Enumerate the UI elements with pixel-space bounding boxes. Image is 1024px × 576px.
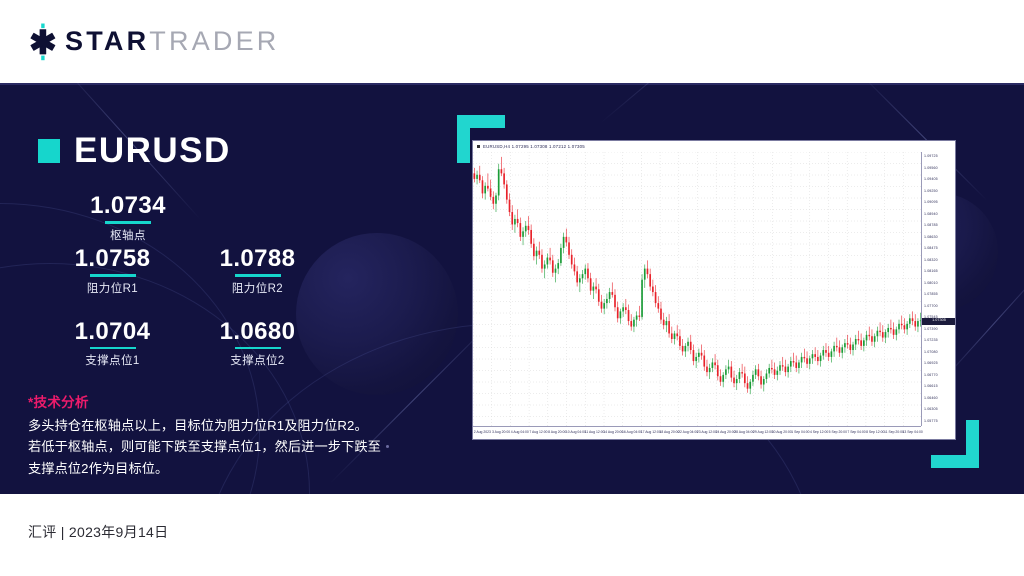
time-axis-tick: 4 Aug 04:00 (511, 431, 529, 434)
time-axis-tick: 2 Aug 2023 (474, 431, 491, 434)
price-axis-tick: 1.08010 (924, 282, 938, 286)
price-axis[interactable]: 1.097251.095601.094051.092501.090951.089… (921, 152, 955, 426)
time-axis-tick: 7 Sep 04:00 (847, 431, 865, 434)
price-axis-tick: 1.09250 (924, 190, 938, 194)
title-accent-square (38, 139, 60, 163)
s1-underline (90, 347, 136, 350)
price-axis-tick: 1.07235 (924, 339, 938, 343)
s2-underline (235, 347, 281, 350)
time-axis-tick: 23 Aug 12:00 (697, 431, 717, 434)
time-axis-tick: 11 Sep 20:00 (884, 431, 904, 434)
r1-value: 1.0758 (40, 246, 185, 271)
time-axis-tick: 11 Aug 12:00 (585, 431, 605, 434)
brand-name-trader: TRADER (149, 26, 279, 56)
time-axis-tick: 1 Sep 04:00 (791, 431, 809, 434)
brand-logo[interactable]: STARTRADER (26, 23, 280, 61)
analysis-line-3: 支撑点位2作为目标位。 (28, 458, 408, 479)
s1-value: 1.0704 (40, 319, 185, 344)
price-axis-tick: 1.08630 (924, 236, 938, 240)
price-axis-tick: 1.06305 (924, 408, 938, 412)
time-axis[interactable]: 2 Aug 20233 Aug 20:004 Aug 04:007 Aug 12… (473, 426, 921, 439)
time-axis-tick: 18 Aug 20:00 (659, 431, 679, 434)
price-chart[interactable]: EURUSD,H4 1.07295 1.07308 1.07212 1.0730… (472, 140, 956, 440)
pivot-label: 枢轴点 (54, 227, 202, 243)
analysis-body: 多头持仓在枢轴点以上，目标位为阻力位R1及阻力位R2。 若低于枢轴点，则可能下跌… (28, 415, 408, 479)
time-axis-tick: 28 Aug 04:00 (734, 431, 754, 434)
support-row: 1.0704 支撑点位1 1.0680 支撑点位2 (40, 319, 330, 369)
price-axis-tick: 1.08165 (924, 270, 938, 274)
time-axis-tick: 13 Sep 04:00 (903, 431, 923, 434)
time-axis-tick: 7 Aug 12:00 (529, 431, 547, 434)
levels-grid: 1.0758 阻力位R1 1.0788 阻力位R2 1.0704 支撑点位1 (40, 246, 330, 368)
s2-block: 1.0680 支撑点位2 (185, 319, 330, 369)
r2-label: 阻力位R2 (185, 280, 330, 296)
price-axis-tick: 1.06925 (924, 362, 938, 366)
resistance-row: 1.0758 阻力位R1 1.0788 阻力位R2 (40, 246, 330, 296)
s1-block: 1.0704 支撑点位1 (40, 319, 185, 369)
page-header: STARTRADER (0, 0, 1024, 83)
r2-value: 1.0788 (185, 246, 330, 271)
chart-plot-area (473, 152, 921, 426)
time-axis-tick: 10 Aug 04:00 (566, 431, 586, 434)
chart-title: EURUSD,H4 1.07295 1.07308 1.07212 1.0730… (483, 144, 585, 149)
price-axis-tick: 1.08320 (924, 259, 938, 263)
current-price-tag: 1.07305 (922, 318, 956, 325)
instrument-symbol: EURUSD (74, 133, 231, 168)
r1-underline (90, 274, 136, 277)
time-axis-tick: 14 Aug 20:00 (603, 431, 623, 434)
analysis-heading: *技术分析 (28, 391, 408, 411)
time-axis-tick: 17 Aug 12:00 (641, 431, 661, 434)
price-axis-tick: 1.08940 (924, 213, 938, 217)
price-axis-tick: 1.07390 (924, 328, 938, 332)
s2-label: 支撑点位2 (185, 352, 330, 368)
time-axis-tick: 16 Aug 04:00 (622, 431, 642, 434)
price-axis-tick: 1.09405 (924, 178, 938, 182)
time-axis-tick: 3 Aug 20:00 (492, 431, 510, 434)
time-axis-tick: 8 Sep 12:00 (866, 431, 884, 434)
time-axis-tick: 5 Sep 20:00 (829, 431, 847, 434)
analysis-line-2: 若低于枢轴点，则可能下跌至支撑点位1，然后进一步下跌至 (28, 436, 408, 457)
time-axis-tick: 4 Sep 12:00 (810, 431, 828, 434)
chart-header: EURUSD,H4 1.07295 1.07308 1.07212 1.0730… (473, 141, 955, 152)
left-content: EURUSD 1.0734 枢轴点 1.0758 阻力位R1 1.0788 阻力… (0, 83, 430, 494)
s2-value: 1.0680 (185, 319, 330, 344)
instrument-title: EURUSD (38, 133, 231, 168)
price-axis-tick: 1.08475 (924, 247, 938, 251)
price-axis-tick: 1.06460 (924, 397, 938, 401)
price-axis-tick: 1.06615 (924, 385, 938, 389)
time-axis-tick: 24 Aug 20:00 (716, 431, 736, 434)
pivot-value: 1.0734 (54, 193, 202, 218)
r2-underline (235, 274, 281, 277)
chart-header-bullet (477, 145, 480, 148)
price-axis-tick: 1.06770 (924, 374, 938, 378)
time-axis-tick: 30 Aug 20:00 (772, 431, 792, 434)
analysis-line-1: 多头持仓在枢轴点以上，目标位为阻力位R1及阻力位R2。 (28, 415, 408, 436)
footer-caption: 汇评 | 2023年9月14日 (28, 522, 168, 542)
pivot-block: 1.0734 枢轴点 (54, 193, 202, 243)
price-axis-tick: 1.05775 (924, 420, 938, 424)
price-axis-tick: 1.07080 (924, 351, 938, 355)
price-axis-tick: 1.07700 (924, 305, 938, 309)
time-axis-tick: 22 Aug 04:00 (678, 431, 698, 434)
candlestick-series (473, 152, 921, 426)
time-axis-tick: 29 Aug 12:00 (753, 431, 773, 434)
price-axis-tick: 1.09560 (924, 167, 938, 171)
r2-block: 1.0788 阻力位R2 (185, 246, 330, 296)
price-axis-tick: 1.09095 (924, 201, 938, 205)
page-footer: 汇评 | 2023年9月14日 (0, 494, 1024, 576)
r1-label: 阻力位R1 (40, 280, 185, 296)
decor-streak-2 (600, 83, 800, 124)
s1-label: 支撑点位1 (40, 352, 185, 368)
brand-name-star: STAR (65, 26, 149, 56)
pivot-underline (105, 221, 151, 224)
r1-block: 1.0758 阻力位R1 (40, 246, 185, 296)
price-axis-tick: 1.07855 (924, 293, 938, 297)
star-asterisk-icon (26, 23, 60, 61)
price-axis-tick: 1.09725 (924, 155, 938, 159)
price-axis-tick: 1.08785 (924, 224, 938, 228)
brand-wordmark: STARTRADER (65, 28, 280, 55)
time-axis-tick: 8 Aug 20:00 (548, 431, 566, 434)
technical-analysis: *技术分析 多头持仓在枢轴点以上，目标位为阻力位R1及阻力位R2。 若低于枢轴点… (28, 391, 408, 479)
